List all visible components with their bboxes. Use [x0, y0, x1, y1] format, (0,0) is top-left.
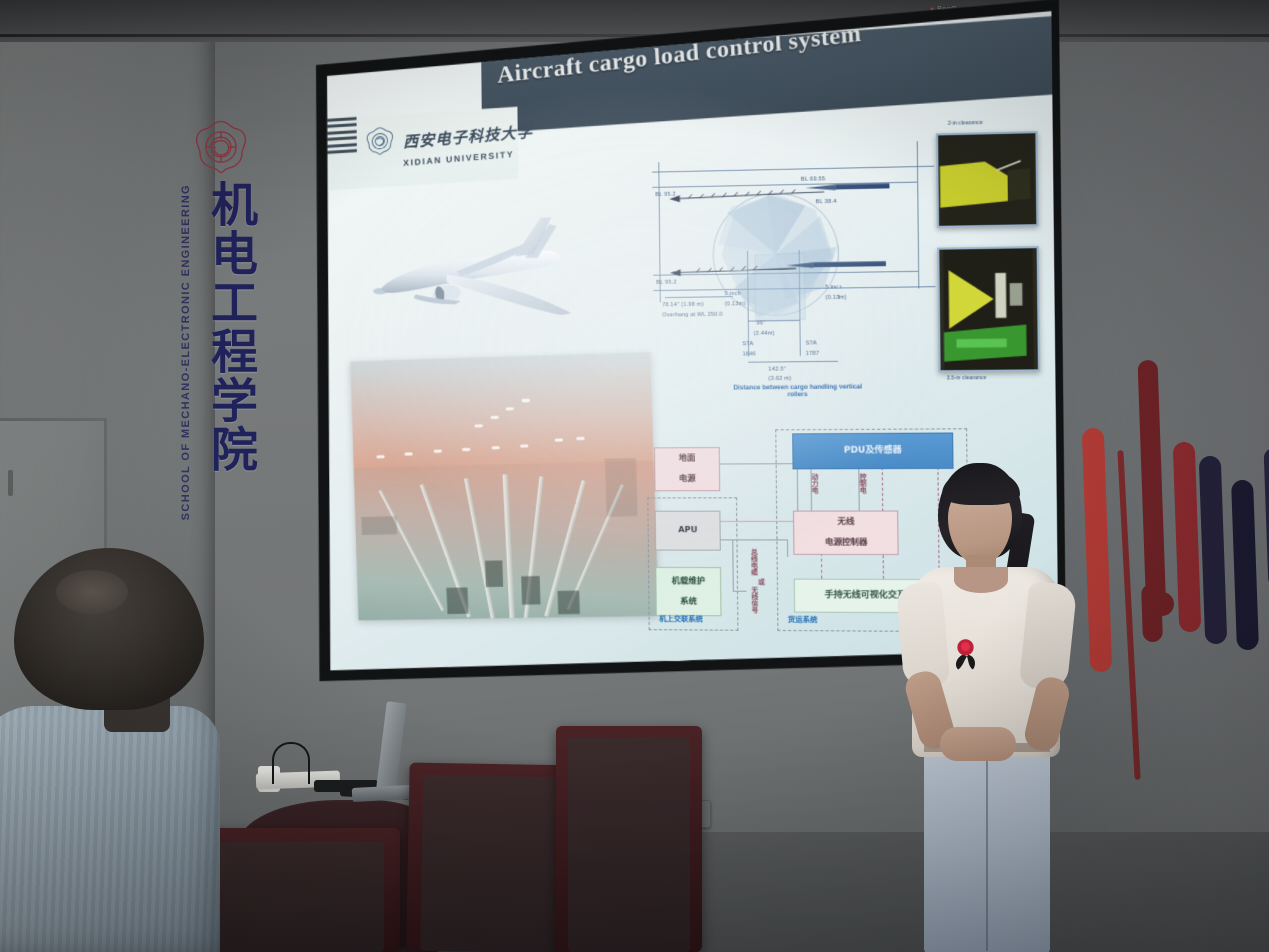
wall-signage-english: SCHOOL OF MECHANO-ELECTRONIC ENGINEERING	[180, 184, 192, 520]
presenter-standing	[890, 455, 1090, 952]
drawing-label-9: Overhang at WL 250.0	[662, 311, 723, 318]
wall-art-bar-6	[1199, 456, 1228, 645]
door-handle[interactable]	[8, 470, 13, 496]
drawing-label-4: 5 inch	[725, 291, 741, 297]
chair-middle[interactable]	[406, 763, 579, 952]
wall-signage-chinese: 机电工程学院	[196, 180, 252, 474]
aircraft-illustration	[359, 204, 594, 338]
signal-label-4: 无线信号	[750, 586, 757, 613]
attendee-seated	[0, 548, 324, 952]
wall-art-bar-5	[1150, 592, 1174, 616]
drawing-label-11: (2.44m)	[754, 331, 775, 337]
wall-art-graphic	[1084, 352, 1269, 772]
drawing-label-15: 1787	[806, 351, 820, 357]
signal-label-2: 总线电缆	[750, 548, 757, 575]
dimension-arrows	[652, 130, 943, 387]
block-wireless-power-ctrl: 无线电源控制器	[793, 510, 899, 555]
wall-art-bar-8	[1264, 448, 1269, 589]
drawing-label-16: 142.5"	[768, 366, 786, 372]
block-ground-power: 地面电源	[654, 447, 721, 492]
signal-label-1: 控制电	[858, 474, 865, 494]
chair-right[interactable]	[556, 726, 702, 952]
drawing-label-6: 5 inch	[825, 284, 842, 290]
signal-label-3: 或	[757, 578, 764, 585]
wall-art-bar-7	[1231, 480, 1259, 651]
xidian-emblem-icon	[365, 125, 395, 157]
drawing-label-14: STA	[806, 340, 817, 346]
block-apu: APU	[655, 510, 722, 550]
slide-stripe-decor	[326, 117, 357, 187]
drawing-label-10: 96"	[756, 321, 765, 327]
wall-art-bar-1	[1117, 450, 1140, 780]
drawing-label-3: BL 95.2	[656, 279, 677, 285]
signal-label-0: 动力电	[810, 474, 817, 494]
inset-upper-caption: 2-in clearance	[948, 120, 983, 127]
university-emblem-icon	[192, 118, 250, 176]
wall-signage: 机电工程学院 SCHOOL OF MECHANO-ELECTRONIC ENGI…	[182, 118, 258, 588]
wall-art-bar-2	[1138, 360, 1167, 619]
ceiling-seam	[0, 34, 1269, 37]
inset-upper-clearance-view	[936, 131, 1038, 228]
technical-drawing: BL 95.2BL 69.55BL 38.4BL 95.25 inch(0.13…	[652, 130, 943, 387]
drawing-label-13: 1646	[742, 351, 756, 357]
rose-print-icon	[952, 637, 982, 671]
drawing-label-5: (0.13m)	[725, 301, 746, 307]
screenshot-root: ● BenQ 机电工程学院 SCHOOL OF MECHANO-ELECTRON…	[0, 0, 1269, 952]
cargo-hold-photo	[350, 353, 659, 621]
wall-art-bar-4	[1173, 442, 1202, 633]
zone-label-cargo-system-zone: 货运系统	[788, 614, 818, 624]
drawing-label-0: BL 95.2	[655, 192, 676, 199]
inset-lower-caption: 3.5-in clearance	[947, 375, 987, 382]
drawing-label-1: BL 69.55	[801, 176, 825, 183]
inset-lower-clearance-view	[937, 246, 1040, 372]
drawing-caption: Distance between cargo handling vertical…	[723, 383, 873, 400]
drawing-label-7: (0.13m)	[825, 295, 846, 301]
drawing-label-2: BL 38.4	[816, 199, 837, 206]
zone-label-onboard-crosslink-zone: 机上交联系统	[659, 614, 703, 624]
drawing-label-12: STA	[742, 341, 753, 347]
block-onboard-maint: 机载维护系统	[655, 567, 722, 616]
drawing-label-17: (3.62 m)	[769, 376, 792, 382]
drawing-label-8: 78.14" (1.98 m)	[662, 302, 704, 309]
